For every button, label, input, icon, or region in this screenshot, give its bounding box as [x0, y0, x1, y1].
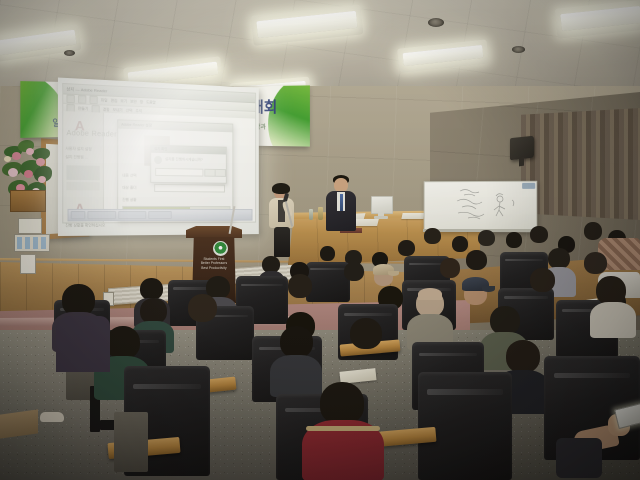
- dialog-footer-label: 진행 상황: [122, 198, 136, 203]
- toolbar-button[interactable]: [89, 96, 97, 105]
- presenter-speaking: [268, 185, 298, 257]
- dialog-field-label-1: 내용 선택: [122, 173, 136, 178]
- wall-panel-upper[interactable]: [18, 218, 42, 234]
- ceiling-speaker-3: [64, 50, 75, 56]
- lectern-top: [186, 226, 242, 238]
- settings-dialog-title: Adobe Reader 설정: [118, 120, 232, 132]
- projected-desktop: 상지 — Adobe Reader 파일 편집 보기 보안 창 도움말 만들기: [58, 78, 259, 236]
- presenter-standing-head: [334, 178, 348, 192]
- audience-head: [530, 226, 548, 243]
- toolbar-label-3[interactable]: 보기: [120, 99, 127, 104]
- projection-screen: 상지 — Adobe Reader 파일 편집 보기 보안 창 도움말 만들기: [58, 78, 259, 236]
- confirm-dialog-title: 설치 확인: [151, 146, 226, 155]
- presenter-standing: [324, 176, 358, 236]
- audience-head: [280, 326, 313, 358]
- audience-head: [188, 294, 217, 322]
- audience-head: [584, 222, 602, 240]
- audience-head: [478, 230, 495, 246]
- audience-head: [288, 274, 312, 298]
- audience-head: [490, 306, 520, 335]
- audience-head: [344, 262, 364, 281]
- audience-head: [106, 326, 140, 359]
- audience-head: [424, 228, 441, 244]
- sidebar-thumbnail[interactable]: [66, 165, 99, 180]
- toolbar2-label-3[interactable]: 보내기: [113, 107, 123, 113]
- adobe-reader-window[interactable]: 상지 — Adobe Reader 파일 편집 보기 보안 창 도움말 만들기: [62, 83, 256, 224]
- audience-head: [452, 236, 468, 252]
- toolbar2-label-1[interactable]: 만들기: [78, 106, 88, 112]
- sidebar-line-2: 설치 진행됨 ...: [65, 155, 88, 161]
- audience-head: [548, 248, 570, 269]
- toolbar2-label-5[interactable]: 주석: [135, 108, 142, 113]
- toolbar-label-2[interactable]: 편집: [111, 98, 118, 103]
- audience-head: [506, 340, 540, 373]
- audience-torso: [270, 355, 322, 397]
- auditorium-photo: 2 일시 술대회 환경공학과 상지 — Adobe Reader 파일 편집 보…: [0, 0, 640, 480]
- warning-icon: [154, 156, 162, 164]
- audience-head: [440, 258, 460, 278]
- toolbar2-label-2[interactable]: 결합: [103, 107, 110, 112]
- reader-navigation-pane[interactable]: A A 사용자 설지 설정 설치 진행됨 ... 진행 상황을 확인하십시오: [63, 111, 104, 222]
- speaker-bracket: [519, 157, 524, 167]
- sidebar-line-3: 진행 상황을 확인하십시오: [65, 223, 105, 228]
- audience-head: [466, 250, 487, 270]
- presenter-standing-tie: [340, 194, 344, 211]
- toolbar-label-1[interactable]: 파일: [101, 98, 108, 103]
- dialog-input-2[interactable]: [154, 184, 225, 193]
- lectern-motto: Students First Better Professors Best Pr…: [197, 257, 231, 270]
- sidebar-thumbnail-2[interactable]: [66, 182, 99, 191]
- whiteboard-sketch-svg: [425, 182, 537, 231]
- toolbar-label-6[interactable]: 도움말: [146, 100, 156, 105]
- desktop-monitor[interactable]: [371, 196, 391, 218]
- wall-panel-middle[interactable]: [14, 234, 50, 252]
- presenter-speaking-trousers: [274, 227, 290, 257]
- toolbar-button[interactable]: [66, 95, 74, 104]
- shirt-collar-stripe: [306, 426, 380, 431]
- audience-head: [596, 276, 626, 305]
- water-bottle-1: [318, 207, 323, 220]
- taskbar-window-1[interactable]: [87, 211, 116, 219]
- toolbar-label-5[interactable]: 창: [140, 99, 143, 104]
- confirm-cancel-button[interactable]: [215, 169, 226, 177]
- audience-head: [320, 246, 335, 261]
- seat-side-panel-front: [114, 412, 148, 472]
- audience-head: [584, 252, 607, 274]
- university-emblem-icon: [213, 241, 228, 256]
- wall-panel-lower[interactable]: [20, 254, 36, 274]
- sidebar-line-1: 사용자 설지 설정: [65, 147, 91, 153]
- projected-taskbar[interactable]: [67, 209, 252, 221]
- audience-head: [350, 318, 382, 349]
- audience-head: [140, 278, 163, 300]
- audience-torso: [590, 302, 636, 338]
- confirm-dialog-message: 설치를 진행하시게습니까?: [165, 157, 203, 163]
- audience-balding-head: [418, 288, 442, 300]
- audience-shoe: [40, 412, 64, 422]
- cap-brim-dark: [482, 286, 495, 292]
- toolbar-label-4[interactable]: 보안: [130, 99, 137, 104]
- cap-brim: [388, 271, 399, 276]
- window-curtain: [521, 108, 640, 220]
- ceiling-speaker-2: [512, 46, 525, 53]
- audience-torso: [56, 316, 110, 372]
- mobile-whiteboard: [424, 181, 538, 232]
- taskbar-window-2[interactable]: [118, 211, 146, 219]
- whiteboard-notes: [425, 182, 537, 231]
- taskbar-start-button[interactable]: [71, 211, 86, 219]
- desk-papers-3: [401, 213, 424, 219]
- adobe-reader-wordmark: Adobe Reader: [66, 130, 116, 139]
- taskbar-window-3[interactable]: [148, 211, 172, 219]
- dialog-field-label-2: 대상 폴더: [122, 186, 136, 191]
- audience-sleeve: [556, 438, 602, 478]
- water-bottle-2: [309, 209, 313, 220]
- whiteboard-corner-label: [522, 183, 535, 189]
- toolbar2-label-4[interactable]: 선택: [126, 108, 133, 113]
- audience-head: [506, 232, 522, 248]
- confirm-input[interactable]: [155, 168, 203, 177]
- audience-head: [320, 382, 364, 424]
- toolbar-button[interactable]: [78, 95, 86, 104]
- audience-head: [530, 268, 555, 292]
- confirm-dialog[interactable]: 설치 확인 설치를 진행하시게습니까?: [150, 145, 227, 184]
- wreath-basket: [10, 190, 46, 212]
- ceiling-speaker-1: [428, 18, 444, 27]
- audience-head: [398, 240, 415, 256]
